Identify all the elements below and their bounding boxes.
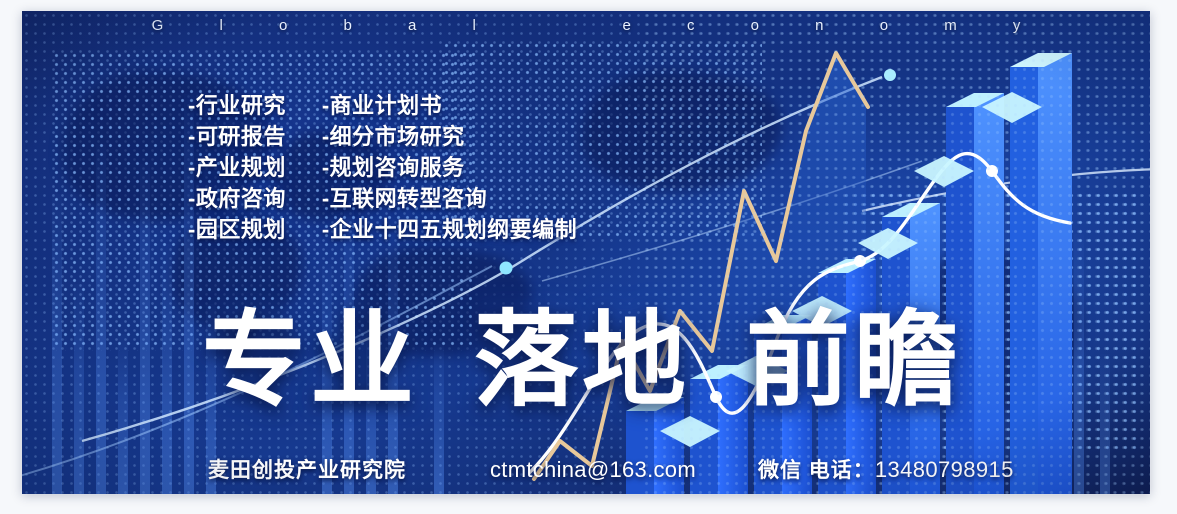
service-item: -细分市场研究 (322, 121, 577, 152)
right-dot-overlay (642, 11, 1150, 494)
service-item: -企业十四五规划纲要编制 (322, 214, 577, 245)
headline-word-2: 落地 (474, 309, 690, 413)
contact-label: 微信 电话： (758, 454, 875, 484)
screenshot-root: G l o b a l e c o n o m y -行业研究 -可研报告 -产… (0, 0, 1177, 514)
service-item: -商业计划书 (322, 90, 577, 121)
service-item: -规划咨询服务 (322, 152, 577, 183)
promo-banner: G l o b a l e c o n o m y -行业研究 -可研报告 -产… (22, 11, 1150, 494)
service-item: -可研报告 (188, 121, 286, 152)
service-item: -互联网转型咨询 (322, 183, 577, 214)
service-item: -产业规划 (188, 152, 286, 183)
email-address[interactable]: ctmtchina@163.com (490, 457, 696, 483)
service-item: -行业研究 (188, 90, 286, 121)
headline-word-1: 专业 (202, 309, 418, 413)
headline: 专业 落地 前瞻 (202, 309, 962, 413)
header-word: G l o b a l e c o n o m y (22, 17, 1150, 34)
services-right-column: -商业计划书 -细分市场研究 -规划咨询服务 -互联网转型咨询 -企业十四五规划… (322, 90, 577, 245)
service-item: -园区规划 (188, 214, 286, 245)
services-left-column: -行业研究 -可研报告 -产业规划 -政府咨询 -园区规划 (188, 90, 286, 245)
service-item: -政府咨询 (188, 183, 286, 214)
phone-number[interactable]: 13480798915 (875, 457, 1014, 483)
headline-word-3: 前瞻 (746, 309, 962, 413)
footer-contact-row: 麦田创投产业研究院 ctmtchina@163.com 微信 电话： 13480… (208, 454, 1014, 484)
organization-name: 麦田创投产业研究院 (208, 454, 406, 484)
services-lists: -行业研究 -可研报告 -产业规划 -政府咨询 -园区规划 -商业计划书 -细分… (188, 90, 577, 245)
